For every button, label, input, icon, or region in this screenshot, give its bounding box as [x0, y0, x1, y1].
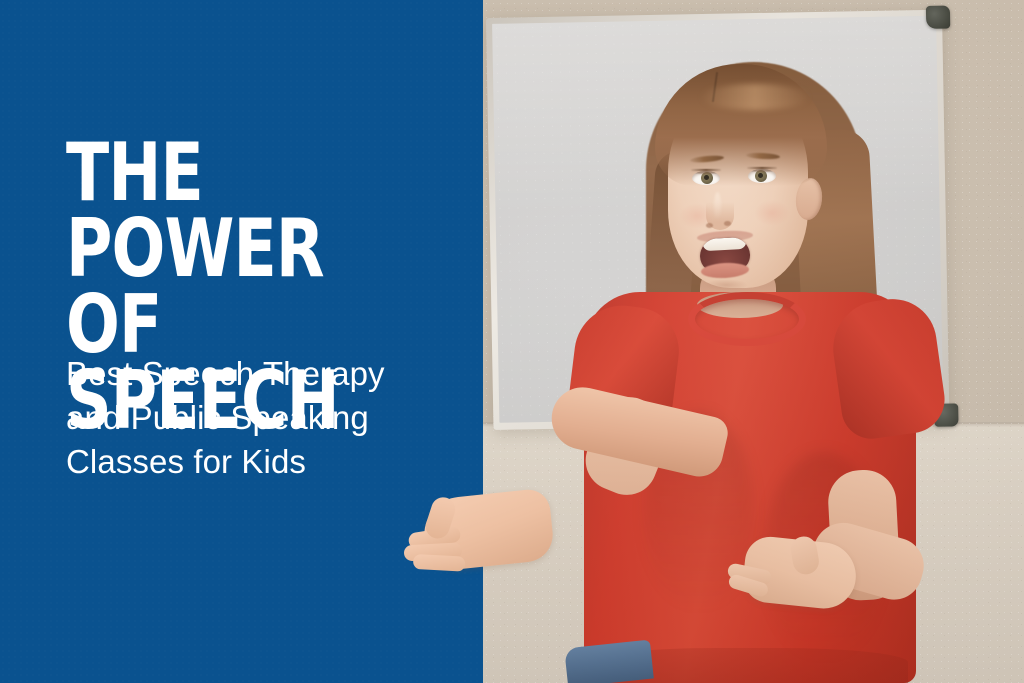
banner-image: THE POWER OF SPEECH Best Speech Therapy … — [0, 0, 1024, 683]
arm-left-forearm — [546, 381, 731, 481]
finger — [413, 554, 466, 572]
left-arm-overlap-group — [0, 0, 1024, 683]
hand-left — [421, 488, 556, 573]
